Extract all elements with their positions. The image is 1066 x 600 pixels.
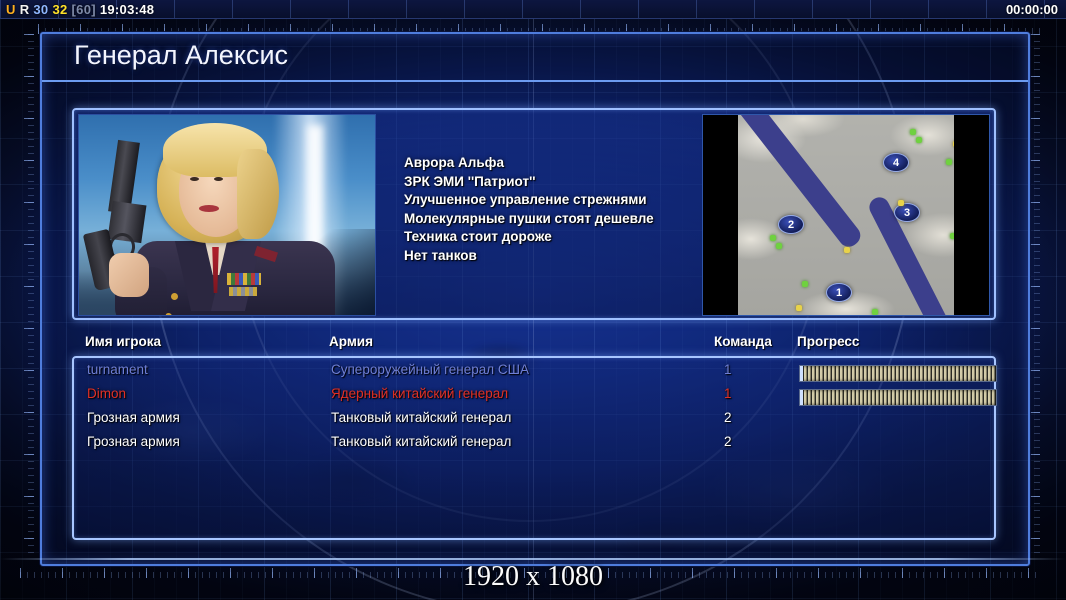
portrait-button-upper [171, 293, 178, 300]
cell-army: Ядерный китайский генерал [331, 386, 508, 401]
minimap-start-position-3: 3 [894, 203, 920, 222]
portrait-medal-ribbons [227, 273, 261, 285]
game-screen: U R 30 32 [60] 19:03:48 00:00:00 Генерал… [0, 0, 1066, 600]
minimap-supply-marker [802, 281, 808, 287]
footer-divider [0, 558, 1066, 560]
general-info-panel: Аврора Альфа ЗРК ЭМИ ''Патриот'' Улучшен… [72, 108, 996, 320]
cell-player-name: Грозная армия [87, 434, 180, 449]
minimap-start-position-2: 2 [778, 215, 804, 234]
minimap-terrain: 4231 [738, 115, 954, 315]
header-army: Армия [329, 334, 373, 349]
general-portrait [78, 114, 376, 316]
table-row[interactable]: Грозная армияТанковый китайский генерал2 [74, 434, 994, 458]
minimap-supply-marker [910, 129, 916, 135]
status-bar-ticks [0, 0, 1066, 18]
status-ping-value: 30 [33, 2, 48, 17]
portrait-lips [199, 205, 219, 212]
player-table-header: Имя игрока Армия Команда Прогресс [72, 334, 996, 356]
progress-bar [799, 365, 997, 382]
cell-army: Танковый китайский генерал [331, 410, 511, 425]
minimap-supply-marker [953, 141, 954, 147]
portrait-eye-right [214, 177, 223, 181]
top-status-bar: U R 30 32 [60] 19:03:48 00:00:00 [0, 0, 1066, 19]
status-clock: 19:03:48 [100, 2, 154, 17]
header-player-name: Имя игрока [85, 334, 161, 349]
cell-team: 2 [724, 410, 732, 425]
page-title: Генерал Алексис [74, 40, 288, 71]
status-timer: 00:00:00 [1006, 0, 1058, 18]
table-row[interactable]: Грозная армияТанковый китайский генерал2 [74, 410, 994, 434]
minimap-supply-marker [770, 235, 776, 241]
progress-bar [799, 389, 997, 406]
minimap-supply-marker [776, 243, 782, 249]
table-row[interactable]: turnamentСупероружейный генерал США1 [74, 362, 994, 386]
table-row[interactable]: DimonЯдерный китайский генерал1 [74, 386, 994, 410]
loading-window: Генерал Алексис [40, 32, 1030, 566]
cell-team: 1 [724, 362, 732, 377]
minimap-supply-marker [946, 159, 952, 165]
minimap-supply-marker [872, 309, 878, 315]
status-fps-value: 32 [52, 2, 67, 17]
player-table: turnamentСупероружейный генерал США1Dimo… [72, 356, 996, 540]
minimap-supply-marker [796, 305, 802, 311]
progress-bar-tip [800, 390, 803, 405]
portrait-hand [109, 253, 149, 297]
portrait-medal-ribbons-second [229, 287, 257, 296]
progress-bar-tip [800, 366, 803, 381]
cell-army: Танковый китайский генерал [331, 434, 511, 449]
status-unit-letter: U [6, 2, 16, 17]
minimap-supply-marker [844, 247, 850, 253]
cell-player-name: Грозная армия [87, 410, 180, 425]
portrait-eye-left [190, 177, 199, 181]
status-bar-left-group: U R 30 32 [60] 19:03:48 [6, 0, 158, 18]
status-fps-cap: [60] [72, 2, 96, 17]
status-rate-letter: R [20, 2, 30, 17]
resolution-label: 1920 x 1080 [0, 561, 1066, 593]
minimap: 4231 [702, 114, 990, 316]
minimap-start-position-1: 1 [826, 283, 852, 302]
header-progress: Прогресс [797, 334, 859, 349]
cell-army: Супероружейный генерал США [331, 362, 529, 377]
window-titlebar: Генерал Алексис [42, 34, 1028, 82]
minimap-supply-marker [898, 200, 904, 206]
cell-team: 2 [724, 434, 732, 449]
cell-player-name: turnament [87, 362, 148, 377]
minimap-supply-marker [916, 137, 922, 143]
cell-player-name: Dimon [87, 386, 126, 401]
minimap-supply-marker [950, 233, 954, 239]
cell-team: 1 [724, 386, 732, 401]
minimap-start-position-4: 4 [883, 153, 909, 172]
header-team: Команда [714, 334, 772, 349]
